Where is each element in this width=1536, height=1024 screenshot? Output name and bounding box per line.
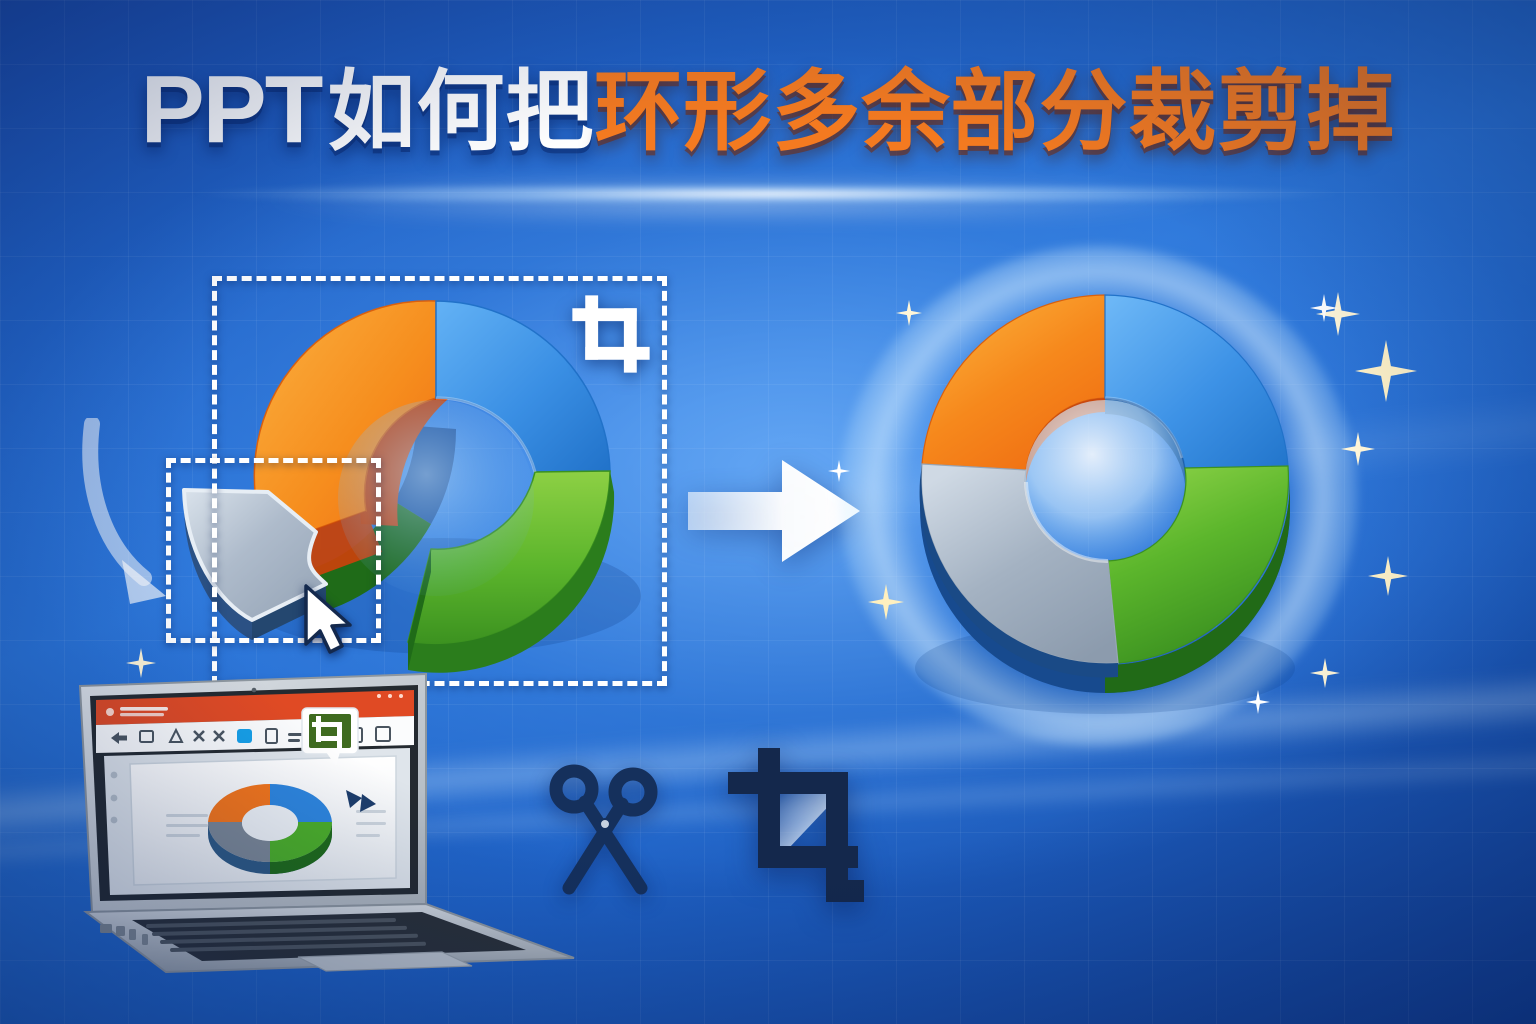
laptop-mockup xyxy=(74,672,594,997)
donut-after-svg xyxy=(860,268,1350,738)
webcam-icon xyxy=(252,688,257,693)
arrow-right-icon xyxy=(688,452,868,575)
title-underline-glow xyxy=(46,186,1490,202)
app-logo-icon xyxy=(106,708,114,716)
mouse-cursor-icon xyxy=(300,582,358,663)
laptop-screen xyxy=(96,690,414,895)
title-ppt: PPT xyxy=(141,62,328,158)
title-orange-text: 环形多余部分裁剪掉 xyxy=(594,68,1395,156)
titlebar-text-line xyxy=(120,713,164,716)
poster-title: PPT如何把环形多余部分裁剪掉 xyxy=(0,62,1536,158)
window-control-icon xyxy=(377,694,381,698)
cursor-svg xyxy=(300,582,358,658)
active-tool-icon xyxy=(237,729,252,743)
slide-donut-chart[interactable] xyxy=(208,784,332,874)
crop-icon xyxy=(728,748,876,909)
curved-arrow-icon xyxy=(78,418,208,623)
sparkle-icon xyxy=(1368,556,1408,601)
title-white-text: 如何把 xyxy=(327,68,594,156)
laptop-svg xyxy=(74,672,594,992)
window-control-icon xyxy=(399,694,403,698)
align-icon xyxy=(288,739,300,742)
poster-canvas: PPT如何把环形多余部分裁剪掉 xyxy=(0,0,1536,1024)
arrow-right-svg xyxy=(688,452,868,570)
crop-icon-svg xyxy=(565,288,657,380)
window-control-icon xyxy=(388,694,392,698)
curved-arrow-svg xyxy=(78,418,208,618)
crop-icon[interactable] xyxy=(565,288,657,385)
crop-icon xyxy=(309,714,351,748)
titlebar-text-line xyxy=(120,707,168,711)
crop-icon-big-svg xyxy=(728,748,876,904)
donut-chart-after xyxy=(860,268,1350,738)
sparkle-icon xyxy=(1355,340,1417,407)
title-glow-wide xyxy=(0,180,1536,220)
